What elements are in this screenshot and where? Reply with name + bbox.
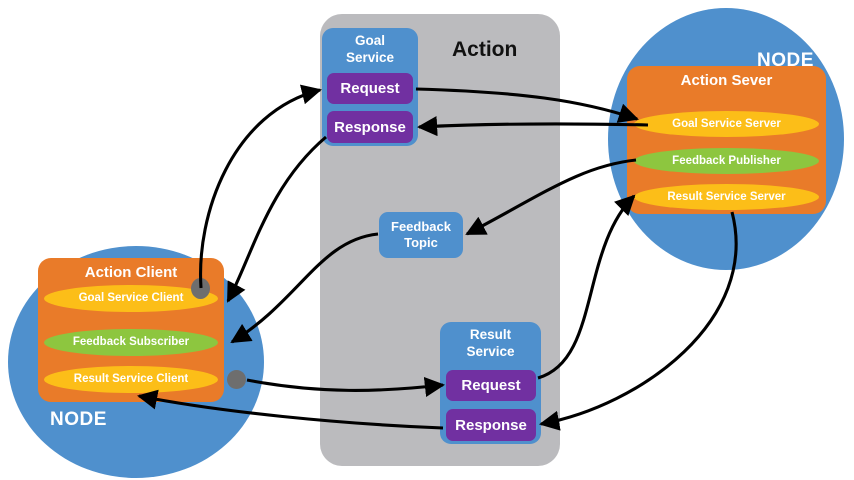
goal-service-response[interactable]: Response — [327, 111, 413, 143]
pill-label: Feedback Subscriber — [73, 336, 189, 348]
goal-service-request[interactable]: Request — [327, 73, 413, 104]
pill-goal-service-server[interactable]: Goal Service Server — [634, 111, 819, 137]
feedback-topic-label: Feedback Topic — [391, 219, 451, 250]
action-server-title: Action Sever — [627, 72, 826, 89]
goal-client-connector-dot — [191, 278, 210, 299]
goal-service-title-line1: Goal — [355, 33, 385, 48]
pill-feedback-subscriber[interactable]: Feedback Subscriber — [44, 329, 218, 356]
result-service-request[interactable]: Request — [446, 370, 536, 401]
result-service-title: Result Service — [440, 327, 541, 361]
result-service-title-line1: Result — [470, 327, 511, 342]
pill-label: Result Service Server — [667, 191, 785, 203]
goal-service-title-line2: Service — [346, 50, 394, 65]
feedback-topic-line2: Topic — [404, 235, 438, 250]
feedback-topic-box[interactable]: Feedback Topic — [379, 212, 463, 258]
feedback-topic-line1: Feedback — [391, 219, 451, 234]
pill-feedback-publisher[interactable]: Feedback Publisher — [634, 148, 819, 174]
pill-label: Goal Service Server — [672, 118, 781, 130]
diagram-canvas: Action NODE Action Client Goal Service C… — [0, 0, 854, 480]
pill-label: Feedback Publisher — [672, 155, 781, 167]
result-client-connector-dot — [227, 370, 246, 389]
pill-label: Result Service Client — [74, 373, 188, 385]
result-service-response[interactable]: Response — [446, 409, 536, 441]
arrow-goal-client-to-goal-request — [201, 90, 320, 288]
pill-result-service-client[interactable]: Result Service Client — [44, 366, 218, 393]
action-title: Action — [452, 38, 517, 62]
arrow-goal-response-to-goal-client — [228, 137, 326, 301]
client-node-label: NODE — [50, 409, 107, 431]
pill-result-service-server[interactable]: Result Service Server — [634, 184, 819, 210]
goal-service-title: Goal Service — [322, 33, 418, 67]
result-service-title-line2: Service — [466, 344, 514, 359]
pill-label: Goal Service Client — [79, 292, 184, 304]
